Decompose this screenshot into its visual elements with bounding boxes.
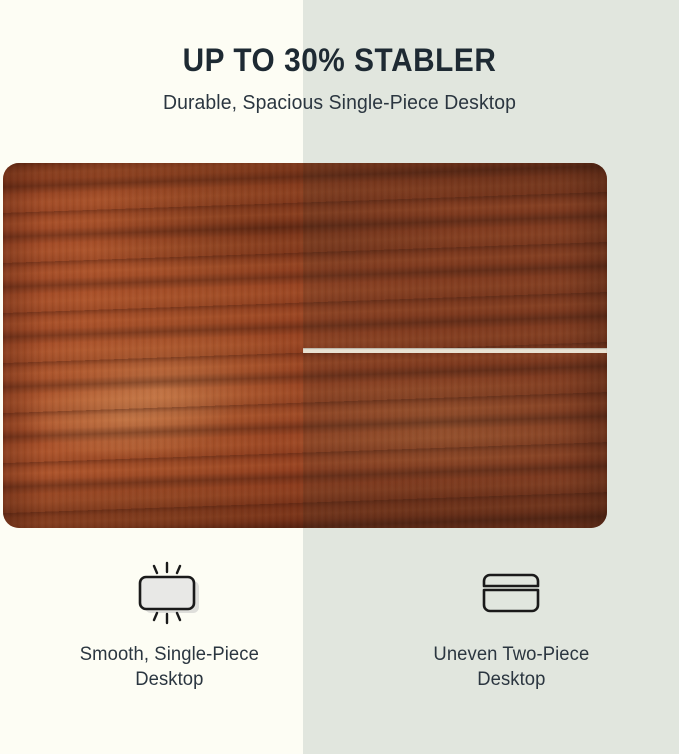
comparison-label-single-piece: Smooth, Single-Piece Desktop	[80, 634, 259, 693]
two-piece-split-desktop-icon	[472, 556, 550, 634]
header: UP TO 30% STABLER Durable, Spacious Sing…	[0, 0, 679, 115]
single-piece-desktop-sparkle-icon	[131, 556, 209, 634]
headline: UP TO 30% STABLER	[24, 0, 655, 78]
label-line-1: Uneven Two-Piece	[433, 644, 589, 665]
label-line-2: Desktop	[136, 669, 204, 690]
comparison-label-two-piece: Uneven Two-Piece Desktop	[433, 634, 589, 693]
comparison-item-two-piece: Uneven Two-Piece Desktop	[338, 556, 679, 716]
comparison-item-single-piece: Smooth, Single-Piece Desktop	[0, 556, 338, 716]
label-line-1: Smooth, Single-Piece	[80, 644, 259, 665]
product-infographic: UP TO 30% STABLER Durable, Spacious Sing…	[0, 0, 679, 754]
label-line-2: Desktop	[477, 669, 545, 690]
comparison-row: Smooth, Single-Piece Desktop Uneven Two-…	[0, 556, 679, 716]
comparison-tint-overlay	[303, 163, 607, 528]
two-piece-seam-line	[303, 348, 607, 353]
subheadline: Durable, Spacious Single-Piece Desktop	[10, 78, 669, 115]
desktop-hero-image	[3, 163, 607, 528]
